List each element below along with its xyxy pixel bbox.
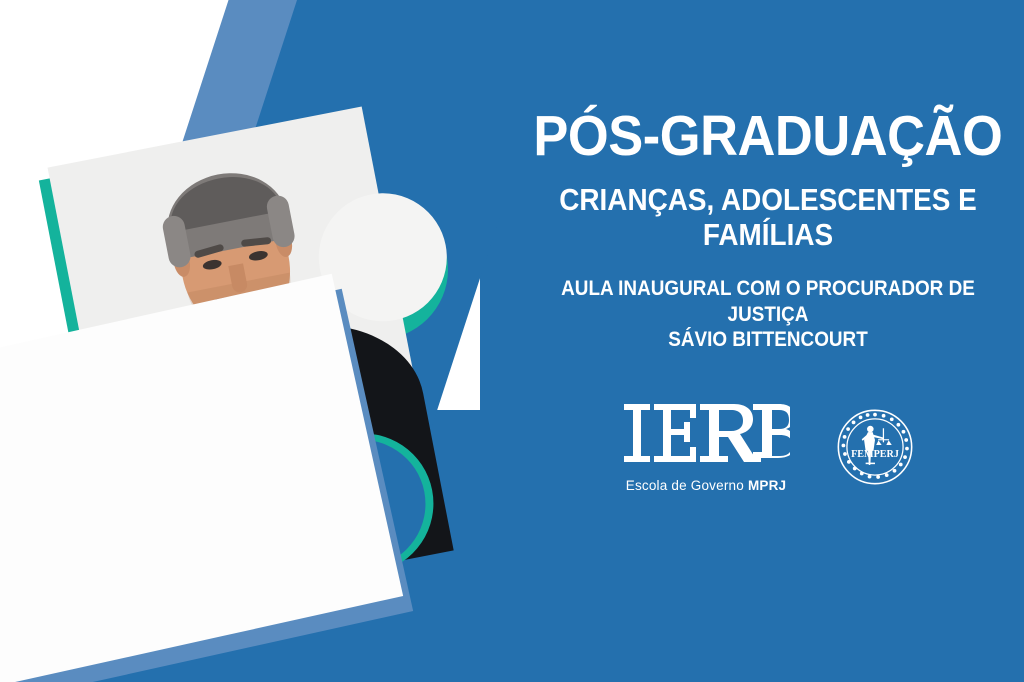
femperj-logo: FEMPERJ xyxy=(836,408,914,486)
femperj-seal-icon: FEMPERJ xyxy=(836,408,914,486)
poster-canvas: PÓS-GRADUAÇÃO CRIANÇAS, ADOLESCENTES E F… xyxy=(0,0,1024,682)
ierbb-wordmark xyxy=(622,400,790,475)
ierbb-tagline-light: Escola de Governo xyxy=(626,478,744,493)
poster-title: PÓS-GRADUAÇÃO xyxy=(534,108,1003,165)
poster-subtitle: CRIANÇAS, ADOLESCENTES E FAMÍLIAS xyxy=(557,183,980,252)
tagline-line-1: AULA INAUGURAL COM O PROCURADOR DE JUSTI… xyxy=(543,276,993,326)
poster-tagline: AULA INAUGURAL COM O PROCURADOR DE JUSTI… xyxy=(543,276,993,352)
ierbb-tagline: Escola de GovernoMPRJ xyxy=(626,478,787,493)
ierbb-wordmark-icon xyxy=(622,400,790,466)
ierbb-logo: Escola de GovernoMPRJ xyxy=(622,400,790,493)
femperj-seal-text: FEMPERJ xyxy=(851,449,899,460)
ierbb-tagline-bold: MPRJ xyxy=(748,478,786,493)
content-column: PÓS-GRADUAÇÃO CRIANÇAS, ADOLESCENTES E F… xyxy=(512,0,1024,682)
artwork-panel xyxy=(0,0,500,682)
tagline-line-2: SÁVIO BITTENCOURT xyxy=(543,327,993,352)
logo-row: Escola de GovernoMPRJ xyxy=(622,400,914,493)
